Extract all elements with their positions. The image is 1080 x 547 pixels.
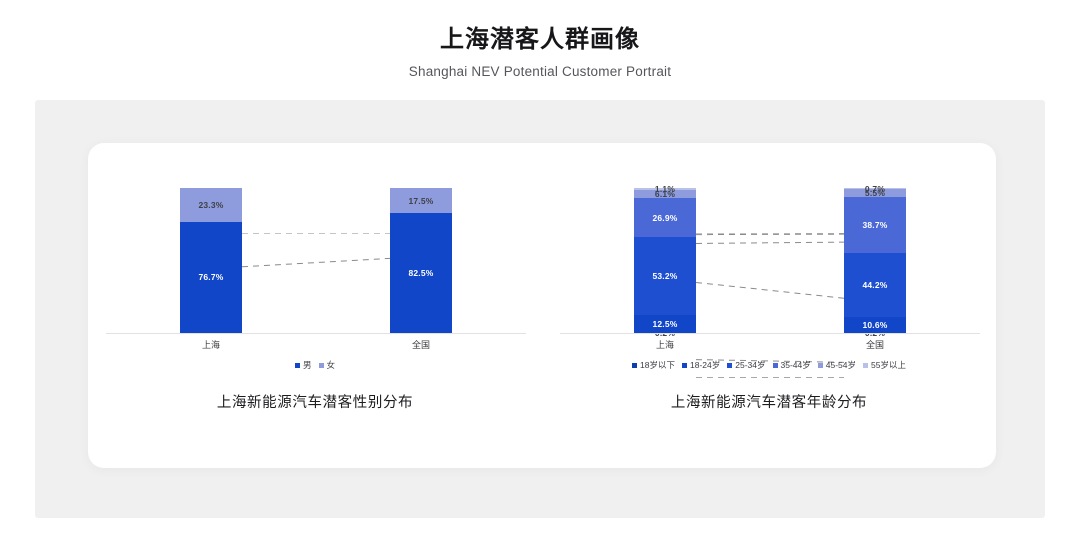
page-subtitle: Shanghai NEV Potential Customer Portrait [409,63,671,81]
bar-segment[interactable]: 23.3% [180,188,242,222]
legend-item[interactable]: 35-44岁 [773,359,811,371]
chart-gender-distribution: 76.7%23.3%82.5%17.5%上海全国男女上海新能源汽车潜客性别分布 [88,143,542,468]
bar-segment[interactable]: 0.7% [844,188,906,189]
legend-swatch-icon [773,363,778,368]
x-axis-labels: 上海全国 [560,338,980,354]
segment-value-label: 44.2% [862,280,887,290]
x-axis-line [106,333,526,334]
segment-value-label: 10.6% [862,320,887,330]
bar-segment[interactable]: 1.1% [634,188,696,190]
segment-value-label: 1.1% [634,184,696,194]
legend-label: 男 [303,359,312,371]
legend-label: 45-54岁 [826,359,856,371]
chart-legend: 男女 [88,359,542,371]
plot-area: 0.2%12.5%53.2%26.9%6.1%1.1%0.2%10.6%44.2… [560,188,980,333]
legend-item[interactable]: 45-54岁 [818,359,856,371]
legend-label: 18-24岁 [690,359,720,371]
bar-segment[interactable]: 12.5% [634,315,696,333]
legend-item[interactable]: 55岁以上 [863,359,906,371]
chart-age-distribution: 0.2%12.5%53.2%26.9%6.1%1.1%0.2%10.6%44.2… [542,143,996,468]
segment-value-label: 17.5% [408,196,433,206]
segment-value-label: 0.7% [844,184,906,194]
stacked-bar[interactable]: 76.7%23.3% [180,188,242,333]
segment-value-label: 76.7% [198,272,223,282]
segment-value-label: 53.2% [652,271,677,281]
x-axis-line [560,333,980,334]
x-axis-tick-label: 上海 [180,338,242,351]
bar-segment[interactable]: 17.5% [390,188,452,213]
legend-item[interactable]: 18岁以下 [632,359,675,371]
legend-label: 25-34岁 [735,359,765,371]
segment-value-label: 12.5% [652,319,677,329]
legend-item[interactable]: 男 [295,359,312,371]
chart-legend: 18岁以下18-24岁25-34岁35-44岁45-54岁55岁以上 [542,359,996,371]
chart-caption: 上海新能源汽车潜客年龄分布 [542,391,996,412]
legend-item[interactable]: 女 [319,359,336,371]
bar-segment[interactable]: 82.5% [390,213,452,333]
legend-swatch-icon [682,363,687,368]
legend-label: 55岁以上 [871,359,906,371]
bar-segment[interactable]: 76.7% [180,222,242,333]
legend-item[interactable]: 18-24岁 [682,359,720,371]
x-axis-labels: 上海全国 [106,338,526,354]
segment-value-label: 23.3% [198,200,223,210]
bar-segment[interactable]: 44.2% [844,253,906,317]
plot-area: 76.7%23.3%82.5%17.5% [106,188,526,333]
bar-segment[interactable]: 26.9% [634,198,696,237]
page-header: 上海潜客人群画像 Shanghai NEV Potential Customer… [0,0,1080,100]
legend-label: 18岁以下 [640,359,675,371]
legend-swatch-icon [632,363,637,368]
legend-label: 35-44岁 [781,359,811,371]
x-axis-tick-label: 全国 [844,338,906,351]
segment-value-label: 26.9% [652,213,677,223]
legend-swatch-icon [818,363,823,368]
legend-swatch-icon [319,363,324,368]
stacked-bar[interactable]: 0.2%12.5%53.2%26.9%6.1%1.1% [634,188,696,333]
segment-value-label: 82.5% [408,268,433,278]
segment-value-label: 38.7% [862,220,887,230]
bar-segment[interactable]: 10.6% [844,317,906,332]
bar-segment[interactable]: 53.2% [634,237,696,314]
legend-label: 女 [327,359,336,371]
bar-segment[interactable]: 38.7% [844,197,906,253]
charts-row: 76.7%23.3%82.5%17.5%上海全国男女上海新能源汽车潜客性别分布0… [88,143,996,468]
legend-swatch-icon [295,363,300,368]
chart-caption: 上海新能源汽车潜客性别分布 [88,391,542,412]
x-axis-tick-label: 全国 [390,338,452,351]
legend-swatch-icon [727,363,732,368]
legend-swatch-icon [863,363,868,368]
stacked-bar[interactable]: 82.5%17.5% [390,188,452,333]
x-axis-tick-label: 上海 [634,338,696,351]
legend-item[interactable]: 25-34岁 [727,359,765,371]
stacked-bar[interactable]: 0.2%10.6%44.2%38.7%5.5%0.7% [844,188,906,333]
page-title: 上海潜客人群画像 [440,24,640,56]
